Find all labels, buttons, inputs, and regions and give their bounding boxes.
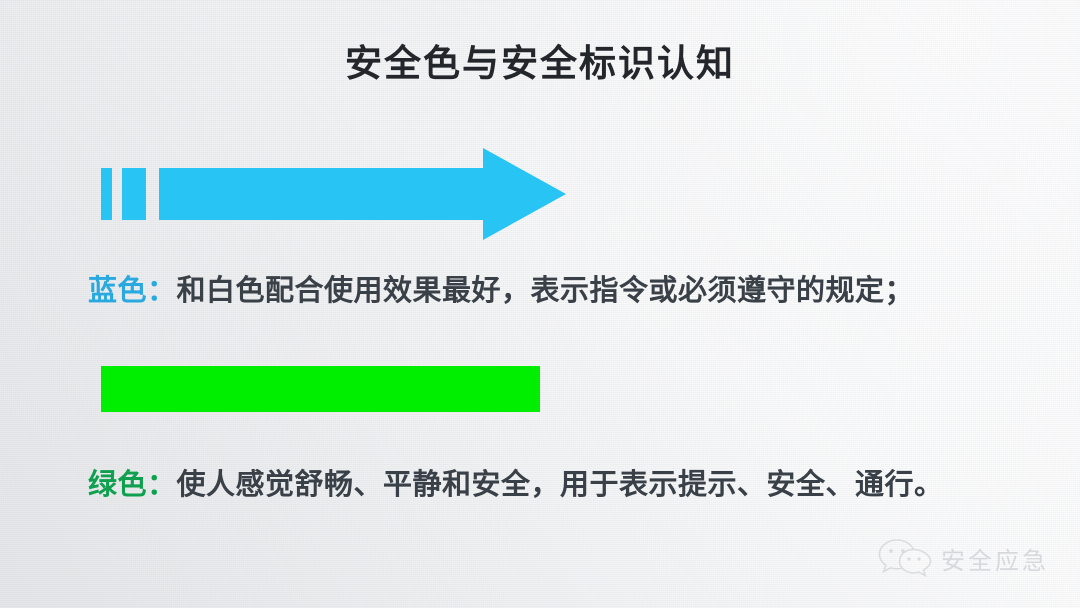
watermark: 安全应急 [878,537,1049,579]
wechat-icon [878,537,932,579]
caption-blue: 蓝色：和白色配合使用效果最好，表示指令或必须遵守的规定； [88,267,914,309]
caption-blue-text: 和白色配合使用效果最好，表示指令或必须遵守的规定； [177,275,915,307]
blue-motion-arrow-graphic [101,148,566,240]
blue-arrow-icon [101,148,566,240]
page-title: 安全色与安全标识认知 [0,33,1080,87]
caption-green-separator: ： [147,469,177,501]
caption-green-text: 使人感觉舒畅、平静和安全，用于表示提示、安全、通行。 [177,469,944,501]
caption-green: 绿色：使人感觉舒畅、平静和安全，用于表示提示、安全、通行。 [88,461,944,503]
watermark-label: 安全应急 [941,541,1049,576]
green-color-bar-graphic [101,366,540,412]
caption-blue-keyword: 蓝色 [88,275,147,307]
caption-blue-separator: ： [147,275,177,307]
slide-canvas: 安全色与安全标识认知 蓝色：和白色配合使用效果最好，表示指令或必须遵守的规定； … [0,0,1080,608]
caption-green-keyword: 绿色 [88,469,147,501]
